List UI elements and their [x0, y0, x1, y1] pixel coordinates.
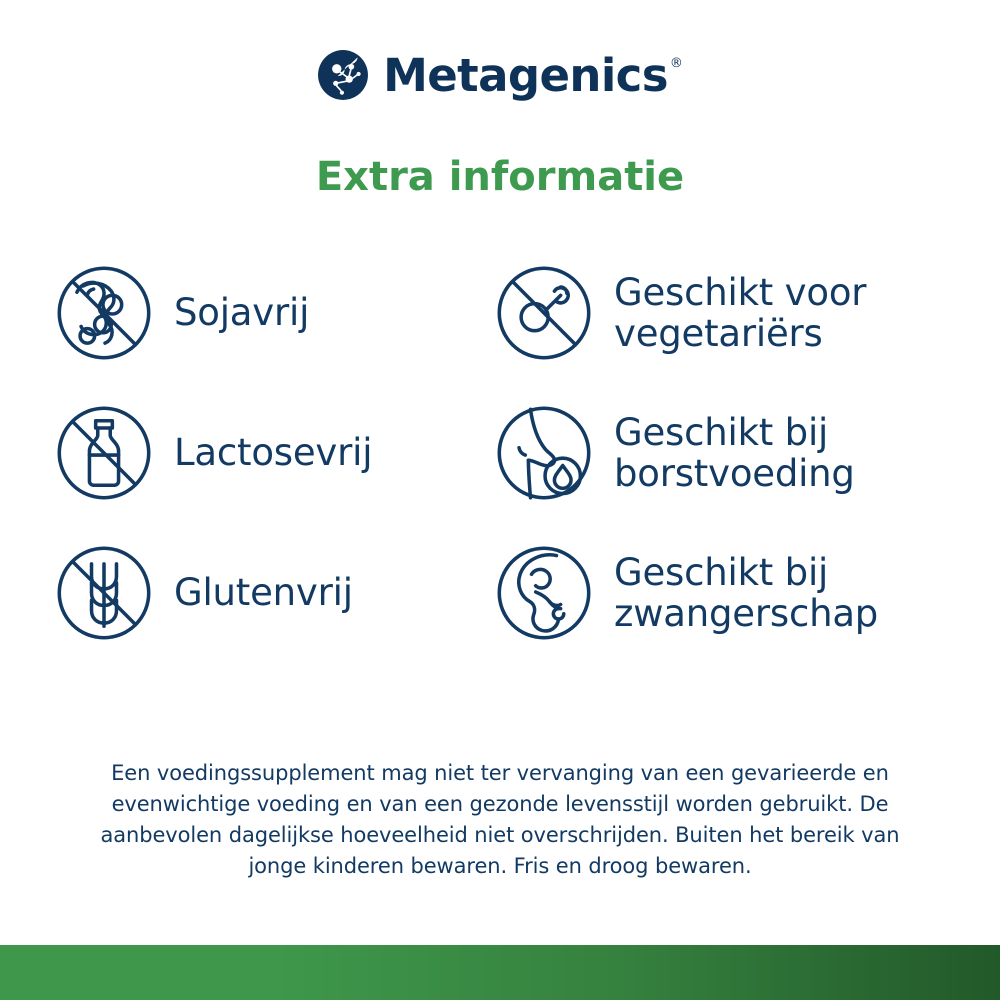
feature-item-borstvoeding: Geschikt bij borstvoeding — [492, 383, 964, 523]
breastfeeding-icon — [492, 401, 596, 505]
feature-label: Geschikt bij borstvoeding — [614, 412, 944, 495]
disclaimer-text: Een voedingssupplement mag niet ter verv… — [70, 758, 930, 882]
registered-trademark-symbol: ® — [670, 57, 683, 70]
brand-logo: Metagenics ® — [0, 44, 1000, 106]
feature-label: Glutenvrij — [174, 572, 353, 613]
extra-information-panel: Metagenics ® Extra informatie Sojavr — [0, 0, 1000, 1000]
brand-wordmark: Metagenics ® — [383, 53, 683, 98]
feature-label: Geschikt bij zwangerschap — [614, 552, 944, 635]
pregnancy-fetus-icon — [492, 541, 596, 645]
feature-item-lactosevrij: Lactosevrij — [52, 383, 492, 523]
no-meat-vegetarian-icon — [492, 261, 596, 365]
metagenics-molecule-mark-icon — [317, 49, 369, 101]
no-lactose-bottle-icon — [52, 401, 156, 505]
page-title: Extra informatie — [0, 155, 1000, 199]
no-soy-icon — [52, 261, 156, 365]
feature-label: Lactosevrij — [174, 432, 372, 473]
feature-item-sojavrij: Sojavrij — [52, 243, 492, 383]
brand-name: Metagenics — [383, 53, 668, 98]
feature-item-glutenvrij: Glutenvrij — [52, 523, 492, 663]
feature-item-zwangerschap: Geschikt bij zwangerschap — [492, 523, 964, 663]
feature-grid: Sojavrij Geschikt voor vegetariërs — [52, 243, 964, 663]
feature-item-vegetarier: Geschikt voor vegetariërs — [492, 243, 964, 383]
feature-label: Geschikt voor vegetariërs — [614, 272, 944, 355]
feature-label: Sojavrij — [174, 292, 309, 333]
footer-gradient-bar — [0, 945, 1000, 1000]
no-gluten-wheat-icon — [52, 541, 156, 645]
